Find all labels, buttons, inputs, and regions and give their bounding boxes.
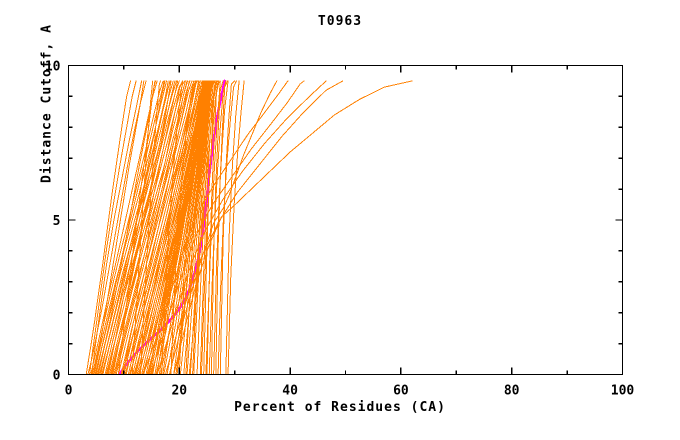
page-title: T0963 [0,14,680,29]
chart-figure: T0963 0204060801000510 Distance Cutoff, … [0,0,680,440]
x-tick-label-60: 60 [393,384,409,399]
plot-canvas: 0204060801000510 [0,0,680,440]
curve-m62 [226,81,239,375]
x-tick-label-80: 80 [504,384,520,399]
plot-area: 0204060801000510 [45,60,635,399]
x-tick-label-0: 0 [65,384,73,399]
y-tick-label-0: 0 [53,369,61,384]
x-tick-label-100: 100 [611,384,635,399]
x-tick-label-40: 40 [282,384,298,399]
curve-m88 [228,81,244,375]
y-axis-label: Distance Cutoff, A [40,0,55,229]
x-tick-label-20: 20 [171,384,187,399]
x-axis-label: Percent of Residues (CA) [0,400,680,415]
curve-group [86,81,412,375]
